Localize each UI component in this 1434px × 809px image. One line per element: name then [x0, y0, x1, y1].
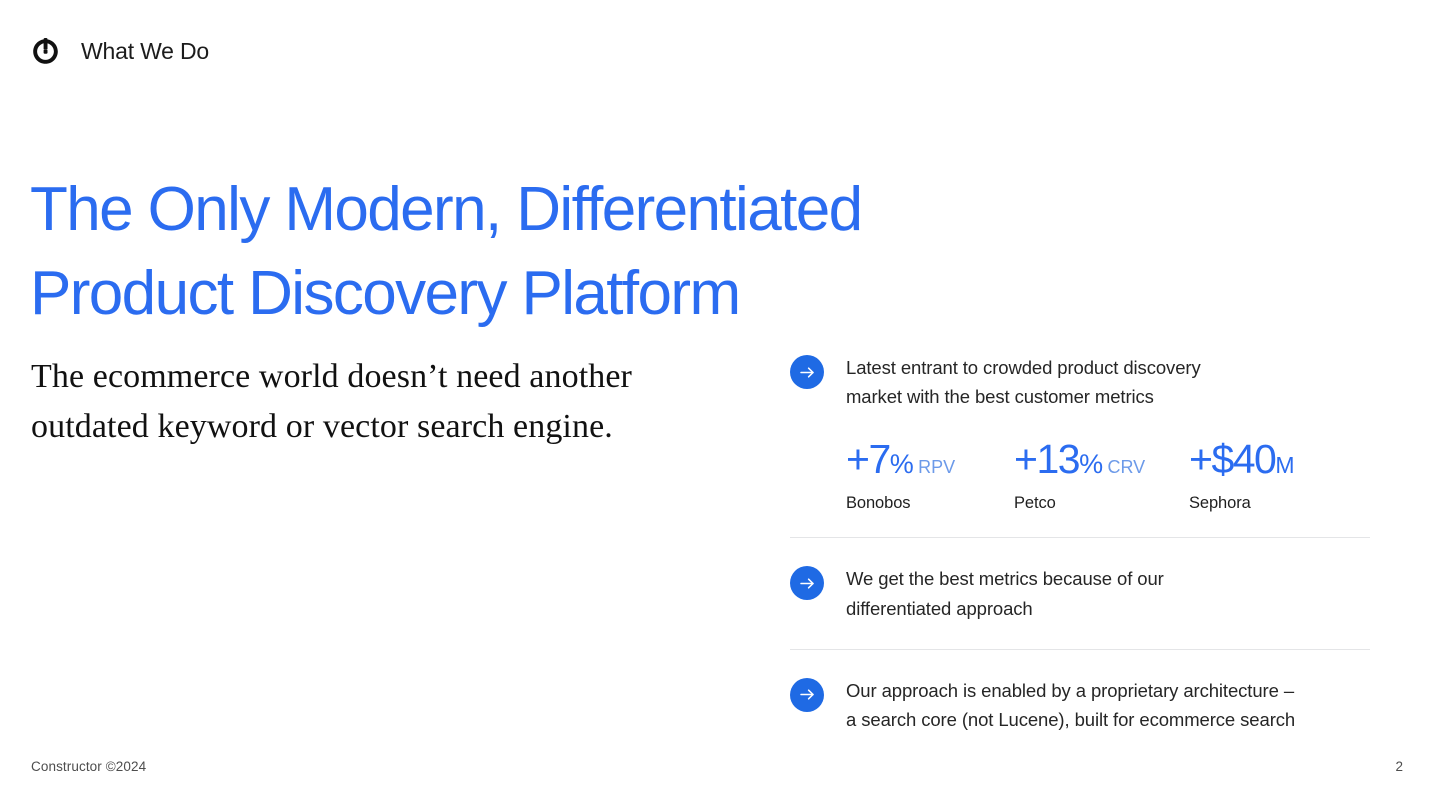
metrics-row: +7%RPV Bonobos +13%CRV Petco +$40M Sepho…	[846, 439, 1370, 513]
arrow-right-circle-icon[interactable]	[790, 355, 824, 389]
highlights-panel: Latest entrant to crowded product discov…	[790, 348, 1370, 734]
bullet-text-1: Latest entrant to crowded product discov…	[846, 353, 1201, 411]
arrow-right-circle-icon[interactable]	[790, 566, 824, 600]
metric-bonobos: +7%RPV Bonobos	[846, 439, 1014, 513]
metric-bonobos-unit: %	[890, 449, 913, 479]
bullet-row-2: We get the best metrics because of our d…	[790, 564, 1370, 622]
metric-petco-value: +13%CRV	[1014, 439, 1189, 480]
highlight-block-3: Our approach is enabled by a proprietary…	[790, 649, 1370, 734]
metric-sephora-value: +$40M	[1189, 439, 1349, 480]
page-title-line-2: Product Discovery Platform	[30, 252, 1090, 336]
metric-bonobos-brand: Bonobos	[846, 494, 1014, 513]
lead-paragraph: The ecommerce world doesn’t need another…	[31, 352, 651, 453]
bullet-row-1: Latest entrant to crowded product discov…	[790, 353, 1370, 411]
metric-petco-brand: Petco	[1014, 494, 1189, 513]
metric-bonobos-value: +7%RPV	[846, 439, 1014, 480]
metric-bonobos-kpi: RPV	[918, 457, 955, 477]
metric-sephora-suffix: M	[1275, 452, 1294, 478]
bullet-text-2: We get the best metrics because of our d…	[846, 564, 1164, 622]
page-title-line-1: The Only Modern, Differentiated	[30, 168, 1090, 252]
header-title: What We Do	[81, 38, 209, 65]
page-title: The Only Modern, Differentiated Product …	[30, 168, 1090, 337]
bullet-text-3: Our approach is enabled by a proprietary…	[846, 676, 1295, 734]
metric-petco-unit: %	[1079, 449, 1102, 479]
bullet-1-line-2: market with the best customer metrics	[846, 382, 1201, 411]
footer-copyright: Constructor ©2024	[31, 759, 146, 774]
bullet-3-line-1: Our approach is enabled by a proprietary…	[846, 676, 1295, 705]
slide-header: What We Do	[32, 30, 209, 72]
metric-bonobos-number: +7	[846, 436, 890, 482]
metric-sephora: +$40M Sephora	[1189, 439, 1349, 513]
power-button-icon	[32, 38, 59, 65]
highlight-block-1: Latest entrant to crowded product discov…	[790, 348, 1370, 537]
bullet-row-3: Our approach is enabled by a proprietary…	[790, 676, 1370, 734]
highlight-block-2: We get the best metrics because of our d…	[790, 537, 1370, 648]
metric-sephora-number: +$40	[1189, 436, 1275, 482]
metric-petco-number: +13	[1014, 436, 1079, 482]
footer-page-number: 2	[1395, 759, 1403, 774]
arrow-right-circle-icon[interactable]	[790, 678, 824, 712]
metric-petco-kpi: CRV	[1107, 457, 1145, 477]
metric-sephora-brand: Sephora	[1189, 494, 1349, 513]
bullet-3-line-2: a search core (not Lucene), built for ec…	[846, 705, 1295, 734]
bullet-1-line-1: Latest entrant to crowded product discov…	[846, 353, 1201, 382]
bullet-2-line-2: differentiated approach	[846, 594, 1164, 623]
metric-petco: +13%CRV Petco	[1014, 439, 1189, 513]
bullet-2-line-1: We get the best metrics because of our	[846, 564, 1164, 593]
